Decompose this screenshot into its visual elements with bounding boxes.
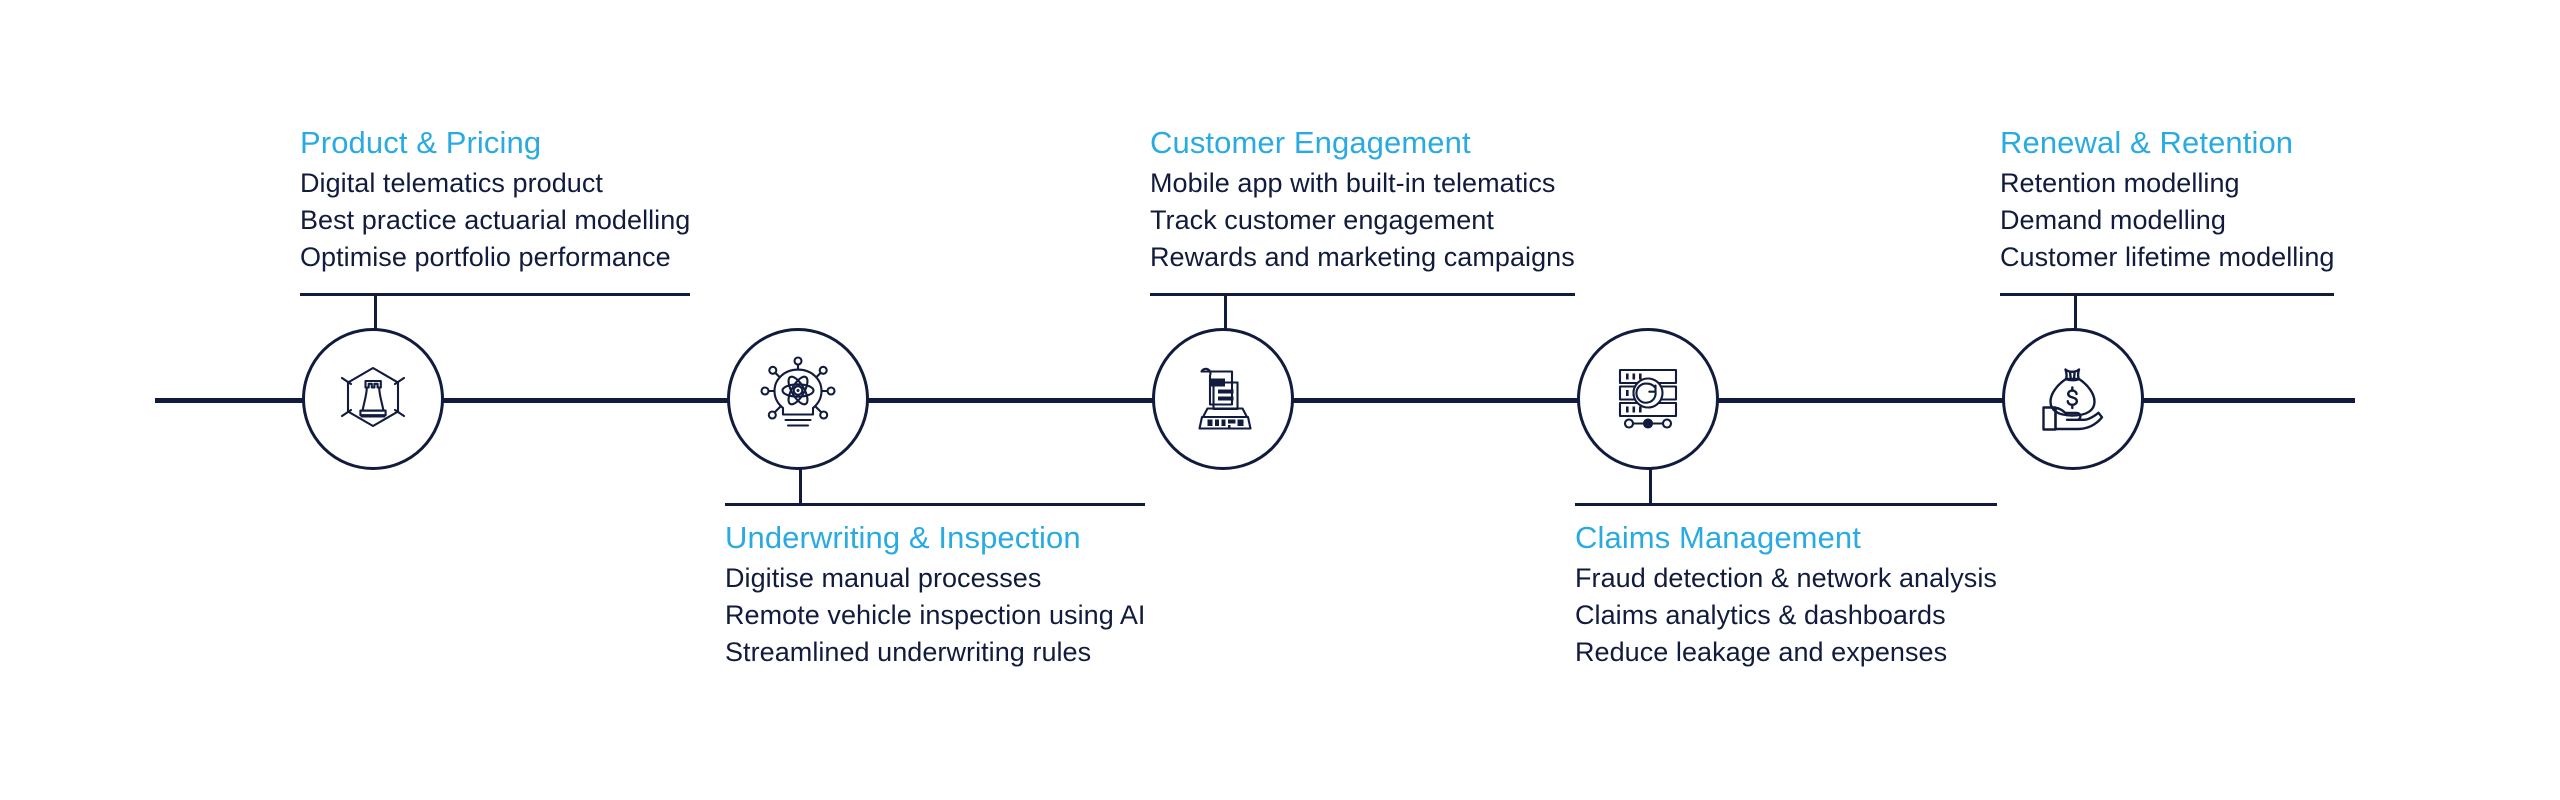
stage-line: Digitise manual processes: [725, 560, 1145, 597]
stage-stem: [1224, 295, 1227, 331]
stage-line: Optimise portfolio performance: [300, 239, 690, 276]
stage-icon-circle[interactable]: [2002, 328, 2144, 470]
stage-text-block: Renewal & Retention Retention modelling …: [2000, 123, 2334, 276]
chess-rook-hexagon-icon: [328, 354, 418, 444]
stage-line: Claims analytics & dashboards: [1575, 597, 1997, 634]
stage-icon-circle[interactable]: [302, 328, 444, 470]
lightbulb-atom-network-icon: [751, 352, 845, 446]
stage-line: Track customer engagement: [1150, 202, 1575, 239]
stage-line: Demand modelling: [2000, 202, 2334, 239]
stage-stem: [2074, 295, 2077, 331]
hand-money-bag-icon: [2029, 355, 2117, 443]
typewriter-document-icon: [1179, 355, 1267, 443]
stage-icon-circle[interactable]: [727, 328, 869, 470]
stage-title: Claims Management: [1575, 518, 1997, 557]
stage-rule: [1150, 293, 1575, 296]
stage-text-block: Underwriting & Inspection Digitise manua…: [725, 518, 1145, 671]
stage-line: Reduce leakage and expenses: [1575, 634, 1997, 671]
stage-rule: [300, 293, 690, 296]
stage-line: Mobile app with built-in telematics: [1150, 165, 1575, 202]
stage-title: Product & Pricing: [300, 123, 690, 162]
timeline-diagram: Product & Pricing Digital telematics pro…: [0, 0, 2560, 800]
stage-title: Customer Engagement: [1150, 123, 1575, 162]
stage-stem: [374, 295, 377, 331]
stage-line: Remote vehicle inspection using AI: [725, 597, 1145, 634]
stage-stem: [799, 468, 802, 505]
stage-title: Renewal & Retention: [2000, 123, 2334, 162]
stage-line: Rewards and marketing campaigns: [1150, 239, 1575, 276]
stage-line: Best practice actuarial modelling: [300, 202, 690, 239]
stage-text-block: Product & Pricing Digital telematics pro…: [300, 123, 690, 276]
stage-line: Streamlined underwriting rules: [725, 634, 1145, 671]
stage-text-block: Claims Management Fraud detection & netw…: [1575, 518, 1997, 671]
stage-text-block: Customer Engagement Mobile app with buil…: [1150, 123, 1575, 276]
stage-rule: [725, 503, 1145, 506]
stage-stem: [1649, 468, 1652, 505]
stage-rule: [1575, 503, 1997, 506]
stage-icon-circle[interactable]: [1152, 328, 1294, 470]
stage-icon-circle[interactable]: [1577, 328, 1719, 470]
stage-rule: [2000, 293, 2334, 296]
stage-line: Digital telematics product: [300, 165, 690, 202]
stage-line: Customer lifetime modelling: [2000, 239, 2334, 276]
stage-title: Underwriting & Inspection: [725, 518, 1145, 557]
server-stack-refresh-icon: [1603, 354, 1693, 444]
stage-line: Fraud detection & network analysis: [1575, 560, 1997, 597]
stage-line: Retention modelling: [2000, 165, 2334, 202]
